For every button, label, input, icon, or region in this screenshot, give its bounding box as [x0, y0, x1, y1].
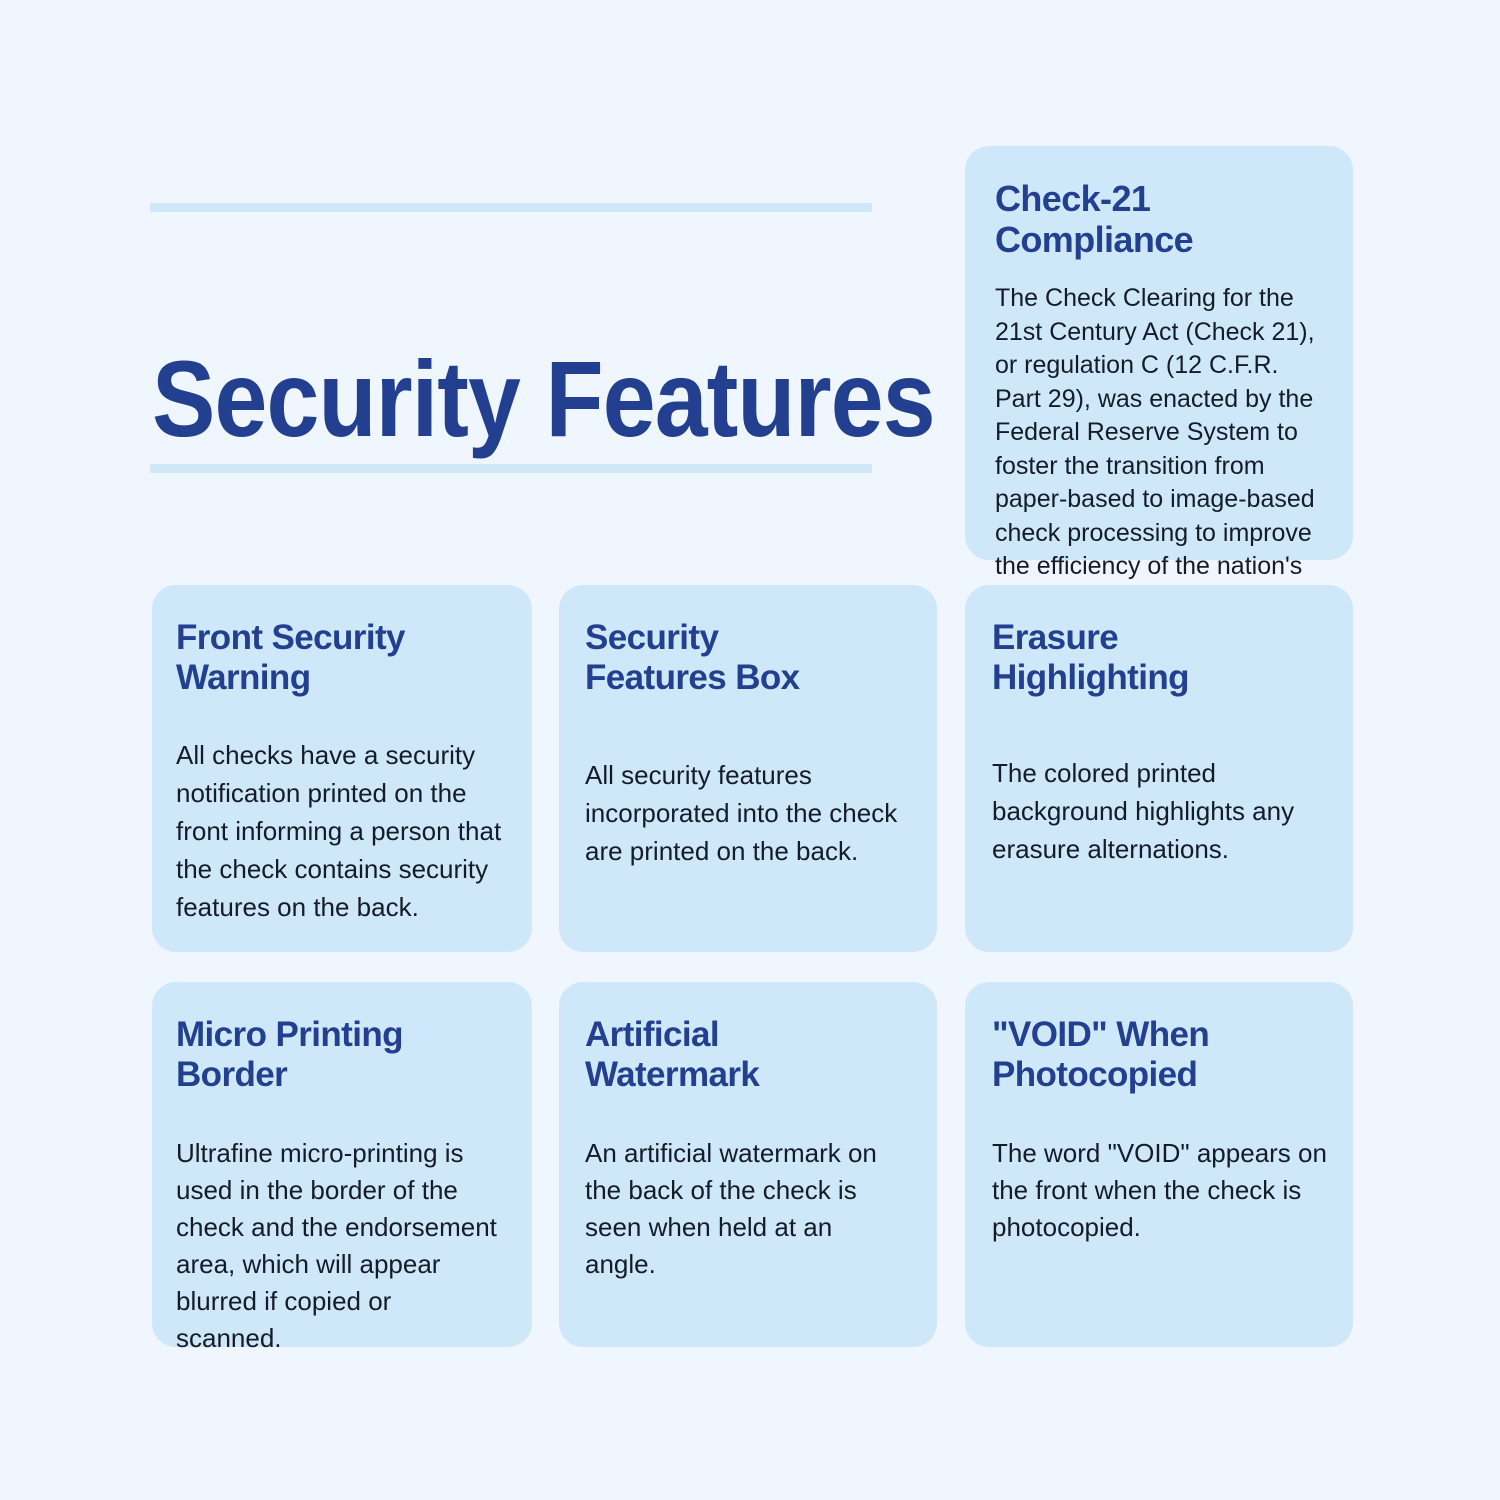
- card-body-front-security-warning: All checks have a security notification …: [176, 736, 502, 926]
- title-rule-bottom: [150, 464, 872, 473]
- card-body-erasure-highlighting: The colored printed background highlight…: [992, 754, 1323, 868]
- card-body-micro-printing-border: Ultrafine micro-printing is used in the …: [176, 1135, 502, 1357]
- card-security-features-box: Security Features Box All security featu…: [559, 585, 937, 952]
- card-title-erasure-highlighting: Erasure Highlighting: [992, 618, 1323, 698]
- security-features-infographic: Security Features Check-21 Compliance Th…: [0, 0, 1500, 1500]
- card-body-artificial-watermark: An artificial watermark on the back of t…: [585, 1135, 907, 1283]
- card-body-check-21-compliance: The Check Clearing for the 21st Century …: [995, 282, 1323, 617]
- card-body-void-when-photocopied: The word "VOID" appears on the front whe…: [992, 1135, 1329, 1246]
- card-title-artificial-watermark: Artificial Watermark: [585, 1015, 907, 1095]
- card-title-check-21-compliance: Check-21 Compliance: [995, 178, 1323, 260]
- card-front-security-warning: Front Security Warning All checks have a…: [152, 585, 532, 952]
- page-title: Security Features: [152, 343, 935, 455]
- card-title-micro-printing-border: Micro Printing Border: [176, 1015, 502, 1095]
- card-title-void-when-photocopied: "VOID" When Photocopied: [992, 1015, 1329, 1095]
- card-body-security-features-box: All security features incorporated into …: [585, 756, 907, 870]
- card-void-when-photocopied: "VOID" When Photocopied The word "VOID" …: [965, 982, 1353, 1347]
- title-rule-top: [150, 203, 872, 212]
- card-micro-printing-border: Micro Printing Border Ultrafine micro-pr…: [152, 982, 532, 1347]
- title-block: Security Features: [150, 203, 872, 473]
- card-title-front-security-warning: Front Security Warning: [176, 618, 502, 698]
- card-artificial-watermark: Artificial Watermark An artificial water…: [559, 982, 937, 1347]
- card-check-21-compliance: Check-21 Compliance The Check Clearing f…: [965, 146, 1353, 560]
- card-title-security-features-box: Security Features Box: [585, 618, 907, 698]
- card-erasure-highlighting: Erasure Highlighting The colored printed…: [965, 585, 1353, 952]
